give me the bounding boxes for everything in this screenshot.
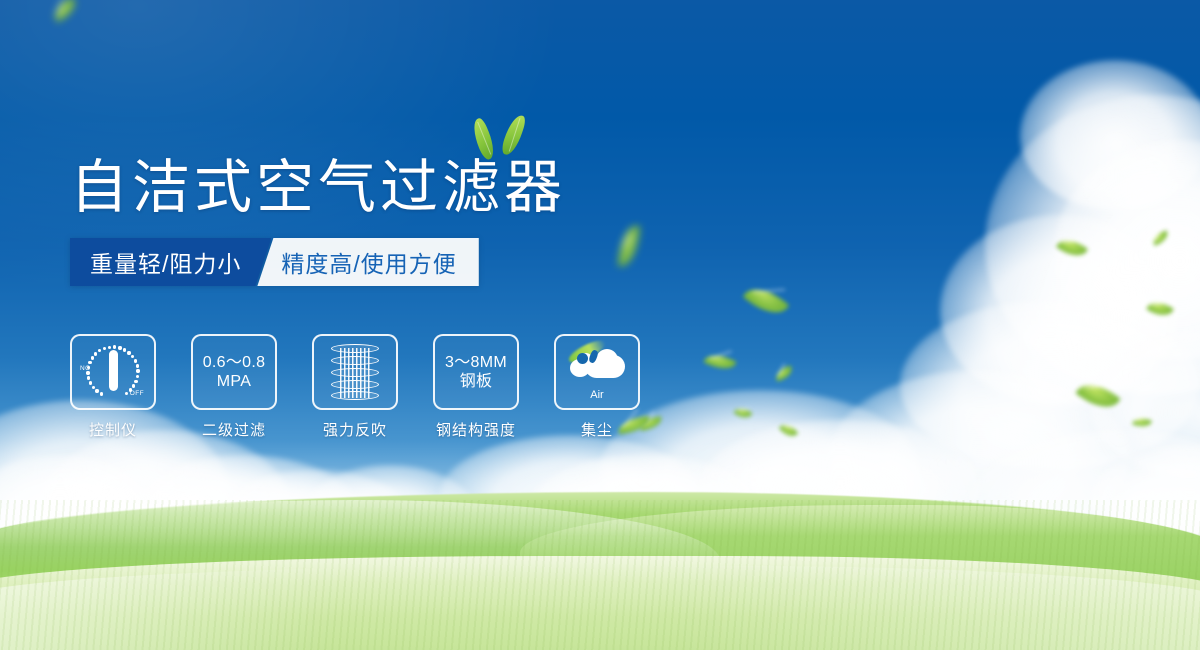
filter-disc (331, 380, 379, 389)
steel-thickness-text: 3～8MM (445, 353, 507, 372)
dial-tick (125, 392, 128, 395)
dial-tick (89, 381, 92, 384)
dial-tick (134, 380, 137, 383)
feature-item-pressure[interactable]: 0.6～0.8 MPA 二级过滤 (191, 334, 277, 440)
promo-banner: 自洁式空气过滤器 重量轻/阻力小 精度高/使用方便 NO OFF 控制仪 0.6… (0, 0, 1200, 650)
dial-needle (109, 350, 118, 391)
dial-tick (136, 375, 139, 378)
dial-tick (118, 346, 121, 349)
feature-item-backblow[interactable]: 强力反吹 (312, 334, 398, 440)
subtitle-right-text: 精度高/使用方便 (257, 238, 478, 286)
dial-tick (88, 361, 91, 364)
feature-icon-box: 0.6～0.8 MPA (191, 334, 277, 410)
dial-off-label: OFF (130, 390, 144, 397)
dial-tick (94, 352, 97, 355)
air-text: Air (566, 389, 628, 401)
filter-disc (331, 344, 379, 353)
dial-tick (123, 348, 126, 351)
filter-disc (331, 391, 379, 400)
feature-label: 控制仪 (89, 419, 137, 440)
pressure-range-text: 0.6～0.8 (203, 353, 266, 372)
filter-disc (331, 368, 379, 377)
dial-tick (127, 351, 130, 354)
feature-list: NO OFF 控制仪 0.6～0.8 MPA 二级过滤 (70, 334, 640, 440)
dial-tick (87, 376, 90, 379)
feature-label: 强力反吹 (323, 419, 387, 440)
feature-icon-box: Air (554, 334, 640, 410)
dial-tick (136, 364, 139, 367)
dial-tick (136, 369, 139, 372)
dial-tick (134, 359, 137, 362)
dial-tick (92, 386, 95, 389)
feature-label: 钢结构强度 (436, 419, 516, 440)
grass-meadow-front (0, 556, 1200, 650)
dial-on-label: NO (80, 365, 91, 372)
pressure-unit-text: MPA (217, 372, 251, 391)
dial-tick (95, 389, 98, 392)
feature-icon-box: 3～8MM 钢板 (433, 334, 519, 410)
steel-plate-text: 钢板 (460, 372, 493, 391)
feature-icon-box: NO OFF (70, 334, 156, 410)
subtitle-left-text: 重量轻/阻力小 (70, 238, 271, 286)
feature-item-steel[interactable]: 3～8MM 钢板 钢结构强度 (433, 334, 519, 440)
leaf-icon (500, 113, 527, 158)
feature-label: 二级过滤 (202, 419, 266, 440)
dial-tick (98, 349, 101, 352)
feature-item-controller[interactable]: NO OFF 控制仪 (70, 334, 156, 440)
leaf-icon (469, 117, 499, 162)
subtitle-banner: 重量轻/阻力小 精度高/使用方便 (70, 238, 479, 286)
dial-tick (108, 346, 111, 349)
dial-tick (100, 392, 103, 395)
dial-tick (91, 356, 94, 359)
dial-tick (131, 355, 134, 358)
filter-disc (331, 356, 379, 365)
feature-label: 集尘 (581, 419, 613, 440)
cloud-air-icon: Air (566, 346, 628, 398)
dial-tick (132, 384, 135, 387)
filter-cartridge-icon (331, 344, 379, 400)
dial-tick (103, 347, 106, 350)
feature-icon-box (312, 334, 398, 410)
title-leaf-pair (470, 112, 540, 164)
cloud-cutout (577, 353, 588, 364)
dial-gauge-icon: NO OFF (81, 342, 145, 402)
dial-tick (113, 345, 116, 348)
